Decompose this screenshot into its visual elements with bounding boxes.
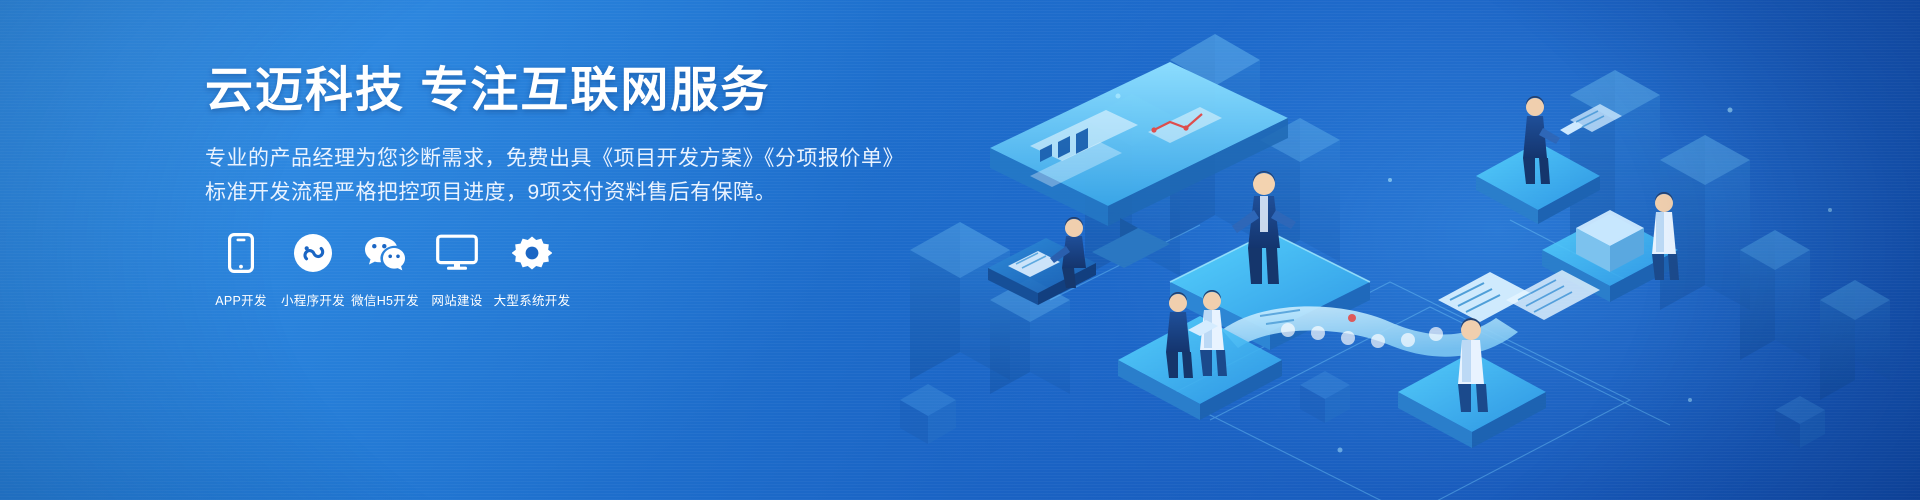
lower-left-platform [1118,316,1282,420]
right-mid-platform [1542,210,1678,302]
wechat-icon [363,232,407,274]
service-item-system[interactable]: 大型系统开发 [493,232,571,309]
service-label-app: APP开发 [215,290,267,309]
glow-dots [1116,94,1833,453]
mobile-phone-icon [228,232,254,274]
subtitle-line-2: 标准开发流程严格把控项目进度，9项交付资料售后有保障。 [205,176,965,210]
right-upper-platform [1476,142,1600,224]
person-right-mid [1652,192,1679,280]
data-sheet-curve [1222,272,1532,357]
subtitle-line-1: 专业的产品经理为您诊断需求，免费出具《项目开发方案》《分项报价单》 [205,142,965,176]
dashboard-screen [990,62,1288,268]
service-item-mini-program[interactable]: 小程序开发 [277,232,349,309]
ground-grid [1050,220,1670,500]
monitor-icon [436,232,478,274]
page-title: 云迈科技 专注互联网服务 [205,64,965,118]
promo-banner: 云迈科技 专注互联网服务 专业的产品经理为您诊断需求，免费出具《项目开发方案》《… [0,0,1920,500]
service-item-app[interactable]: APP开发 [205,232,277,309]
gear-icon [512,232,552,274]
main-platform [1170,232,1370,350]
floating-panels [1506,104,1622,320]
person-lower-right [1458,318,1488,412]
seated-person-left [988,217,1096,305]
mini-program-icon [293,232,333,274]
subtitle-group: 专业的产品经理为您诊断需求，免费出具《项目开发方案》《分项报价单》 标准开发流程… [205,142,965,210]
service-label-wechat: 微信H5开发 [351,290,419,309]
service-label-website: 网站建设 [431,290,482,309]
lower-right-platform [1398,352,1546,448]
service-item-wechat[interactable]: 微信H5开发 [349,232,421,309]
background-buildings [900,34,1890,448]
standing-person-center [1232,171,1296,284]
person-right-upper [1523,96,1584,184]
service-item-website[interactable]: 网站建设 [421,232,493,309]
service-icon-row: APP开发 小程序开发 [205,232,571,309]
banner-text-block: 云迈科技 专注互联网服务 专业的产品经理为您诊断需求，免费出具《项目开发方案》《… [205,64,965,210]
people-lower-left [1166,290,1227,378]
service-label-mini-program: 小程序开发 [281,290,345,309]
isometric-tech-illustration [870,0,1920,500]
service-label-system: 大型系统开发 [494,290,571,309]
